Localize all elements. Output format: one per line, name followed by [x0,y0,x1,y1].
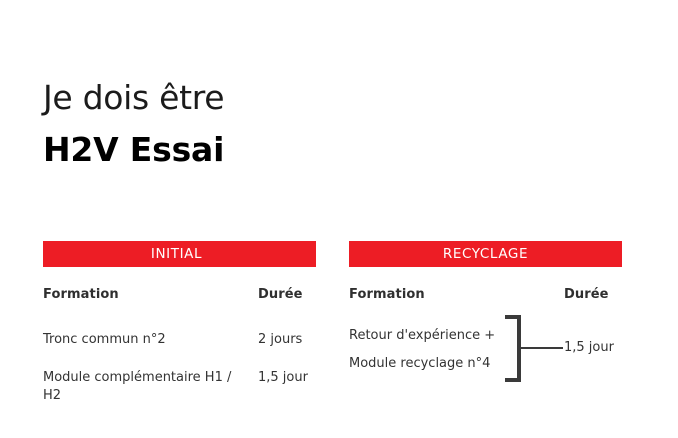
banner-initial-label: INITIAL [151,241,202,267]
table-header-recyclage: Formation Durée [349,287,622,309]
grouped-row-recyclage: Retour d'expérience + Module recyclage n… [349,327,622,407]
brace-bracket-icon [505,315,521,382]
column-header-duree: Durée [258,287,303,302]
column-header-formation: Formation [43,287,119,302]
banner-recyclage: RECYCLAGE [349,241,622,267]
table-row: Module complémentaire H1 / H2 1,5 jour [43,369,316,391]
cell-formation: Module complémentaire H1 / H2 [43,369,248,405]
cell-duree: 1,5 jour [564,339,614,357]
bracket-arm-bottom [505,378,521,382]
banner-initial: INITIAL [43,241,316,267]
list-item: Module recyclage n°4 [349,355,509,373]
page-title: Je dois être H2V Essai [43,78,603,171]
cell-duree: 1,5 jour [258,369,308,387]
slide-canvas: Je dois être H2V Essai INITIAL Formation… [0,0,678,438]
column-header-duree: Durée [564,287,609,302]
cell-formation: Tronc commun n°2 [43,331,248,349]
column-header-formation: Formation [349,287,425,302]
cell-duree: 2 jours [258,331,302,349]
table-body-initial: Tronc commun n°2 2 jours Module compléme… [43,331,316,391]
banner-recyclage-label: RECYCLAGE [443,241,528,267]
column-recyclage: RECYCLAGE Formation Durée Retour d'expér… [349,241,622,407]
page-title-line1: Je dois être [43,78,603,118]
column-initial: INITIAL Formation Durée Tronc commun n°2… [43,241,316,398]
bracket-connector-line [521,347,563,349]
table-header-initial: Formation Durée [43,287,316,309]
table-row: Tronc commun n°2 2 jours [43,331,316,353]
grouped-formation-list: Retour d'expérience + Module recyclage n… [349,327,509,383]
page-title-line2: H2V Essai [43,129,603,171]
list-item: Retour d'expérience + [349,327,509,345]
